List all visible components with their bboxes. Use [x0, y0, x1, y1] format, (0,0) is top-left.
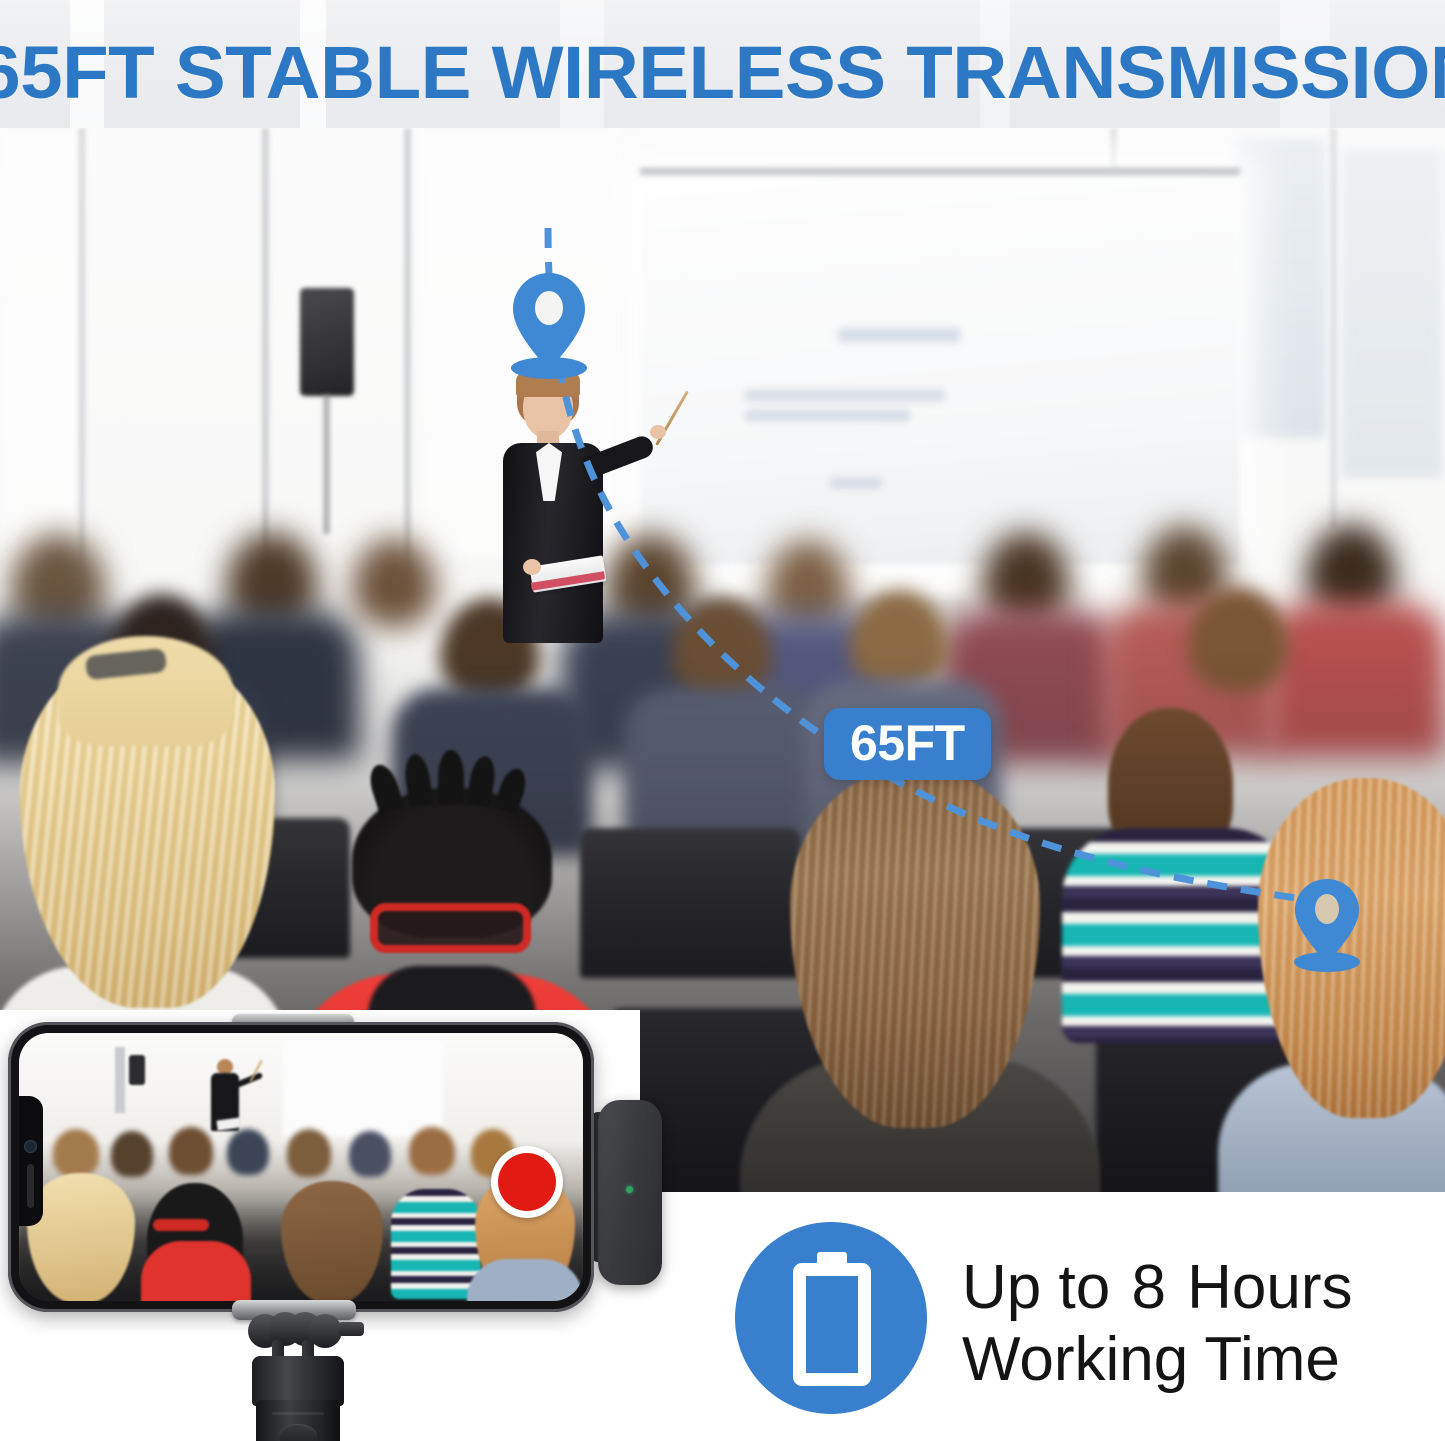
- loudspeaker: [300, 288, 354, 396]
- battery-line1-suffix: Hours: [1187, 1253, 1352, 1322]
- battery-feature-text: Up to 8 Hours Working Time: [962, 1252, 1432, 1396]
- tripod-button: [279, 1424, 317, 1441]
- battery-line2: Working Time: [962, 1324, 1432, 1396]
- battery-icon: [793, 1252, 871, 1386]
- receiver-pin-icon: [1289, 876, 1365, 972]
- projector-screen: [640, 168, 1240, 565]
- front-camera-icon: [24, 1140, 37, 1153]
- phone-tripod-rig: [0, 1008, 700, 1441]
- headline-band: 65FT STABLE WIRELESS TRANSMISSION: [0, 0, 1445, 132]
- battery-hours-value: 8: [1127, 1253, 1169, 1322]
- hinge-thumbscrew: [338, 1322, 364, 1336]
- page-title: 65FT STABLE WIRELESS TRANSMISSION: [0, 34, 1445, 112]
- red-sunglasses: [370, 903, 531, 953]
- record-button-icon[interactable]: [498, 1153, 556, 1211]
- battery-line1-prefix: Up to: [962, 1253, 1110, 1322]
- presenter-figure: [487, 363, 662, 643]
- earpiece-speaker: [27, 1164, 34, 1208]
- distance-badge: 65FT: [824, 708, 991, 780]
- tripod-collar: [252, 1356, 344, 1406]
- product-feature-image: 65FT STABLE WIRELESS TRANSMISSION: [0, 0, 1445, 1441]
- mic-status-led-icon: [626, 1186, 633, 1193]
- transmitter-pin-icon: [505, 270, 593, 380]
